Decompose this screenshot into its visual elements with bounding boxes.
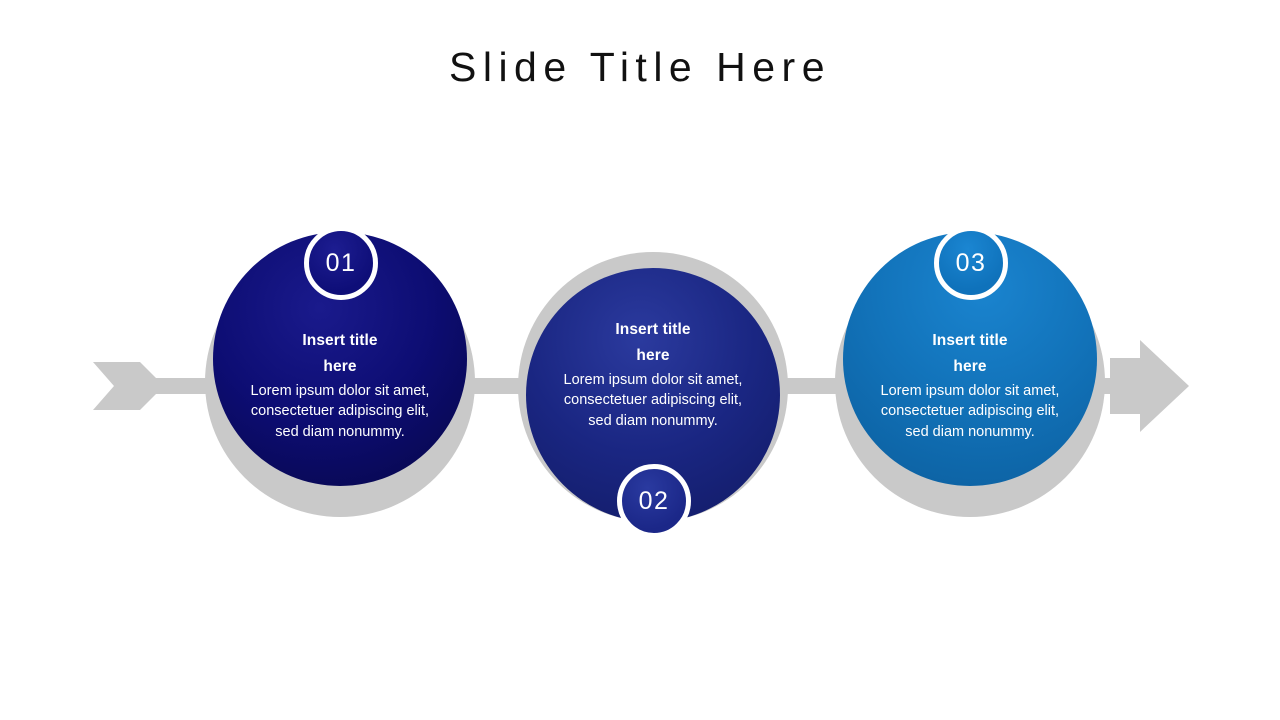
step-badge-3[interactable]: 03	[934, 226, 1008, 300]
step-badge-2[interactable]: 02	[617, 464, 691, 538]
slide-canvas: Slide Title Here Insert title here Lorem…	[0, 0, 1280, 720]
step-title-2: Insert title here	[587, 317, 719, 369]
step-body-1: Lorem ipsum dolor sit amet, consectetuer…	[245, 381, 435, 443]
step-body-2: Lorem ipsum dolor sit amet, consectetuer…	[558, 370, 748, 432]
arrow-head-icon	[1110, 340, 1189, 432]
step-node-2[interactable]: Insert title here Lorem ipsum dolor sit …	[518, 252, 788, 542]
step-node-1[interactable]: Insert title here Lorem ipsum dolor sit …	[205, 232, 475, 517]
step-title-1: Insert title here	[274, 328, 406, 380]
step-body-3: Lorem ipsum dolor sit amet, consectetuer…	[875, 381, 1065, 443]
step-node-3[interactable]: Insert title here Lorem ipsum dolor sit …	[835, 232, 1105, 517]
step-badge-1[interactable]: 01	[304, 226, 378, 300]
step-title-3: Insert title here	[904, 328, 1036, 380]
